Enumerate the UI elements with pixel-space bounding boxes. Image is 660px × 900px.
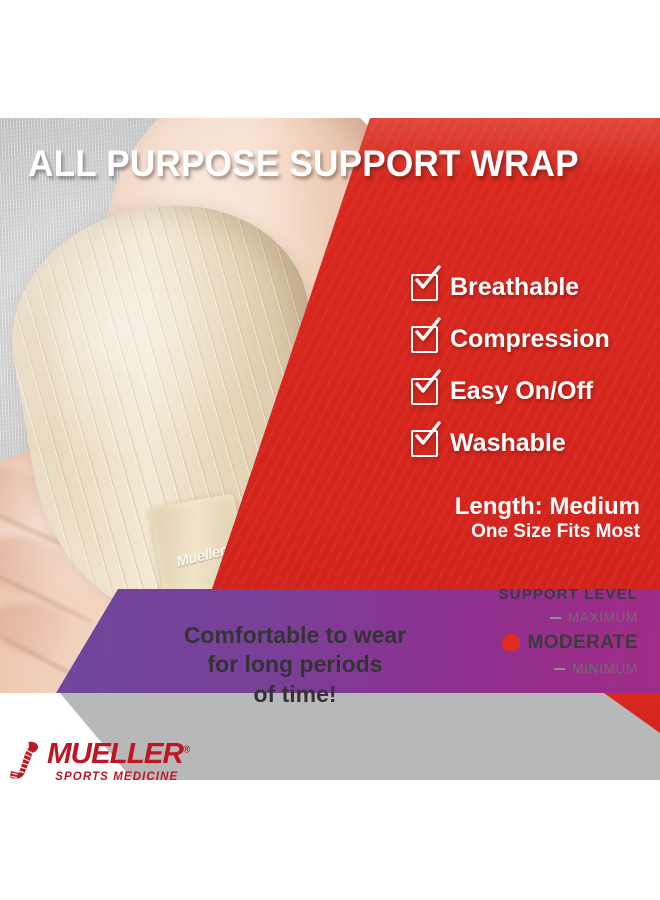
support-level-heading: SUPPORT LEVEL — [0, 586, 638, 603]
feature-item: Easy On/Off — [411, 376, 651, 406]
product-marketing-image: Mueller ALL PURPOSE SUPPORT WRAP Breatha… — [0, 0, 660, 900]
comfort-tagline: Comfortable to wear for long periods of … — [150, 621, 440, 709]
feature-label: Easy On/Off — [450, 377, 593, 406]
wrap-tab-logo: Mueller — [175, 542, 227, 571]
length-primary: Length: Medium — [0, 494, 640, 521]
tagline-line-1: Comfortable to wear — [150, 621, 440, 650]
checkbox-checked-icon — [411, 274, 438, 301]
tick-dash-icon — [554, 668, 565, 670]
checkbox-checked-icon — [411, 430, 438, 457]
brand-logo: MUELLER® SPORTS MEDICINE — [8, 735, 208, 787]
feature-item: Breathable — [411, 272, 651, 302]
feature-item: Compression — [411, 324, 651, 354]
page-title: ALL PURPOSE SUPPORT WRAP — [28, 143, 579, 185]
support-level-label: MODERATE — [527, 632, 638, 654]
registered-mark: ® — [183, 744, 190, 755]
red-dot-indicator — [502, 634, 520, 652]
wrapped-leg-icon — [8, 740, 44, 782]
tagline-line-2: for long periods — [150, 650, 440, 679]
feature-label: Compression — [450, 325, 610, 354]
support-level-label: MAXIMUM — [568, 610, 638, 625]
length-badge: Length: Medium One Size Fits Most — [0, 494, 660, 543]
brand-wordmark: MUELLER® SPORTS MEDICINE — [47, 740, 187, 783]
feature-list: Breathable Compression Easy On/Off — [411, 272, 651, 480]
checkbox-checked-icon — [411, 326, 438, 353]
brand-tagline: SPORTS MEDICINE — [47, 771, 187, 783]
feature-item: Washable — [411, 428, 651, 458]
length-secondary: One Size Fits Most — [0, 521, 640, 543]
feature-label: Breathable — [450, 273, 579, 302]
tick-dash-icon — [550, 617, 561, 619]
brand-name: MUELLER® — [47, 740, 189, 769]
checkbox-checked-icon — [411, 378, 438, 405]
support-level-label: MINIMUM — [572, 661, 638, 676]
tagline-line-3: of time! — [150, 680, 440, 709]
feature-label: Washable — [450, 429, 566, 458]
